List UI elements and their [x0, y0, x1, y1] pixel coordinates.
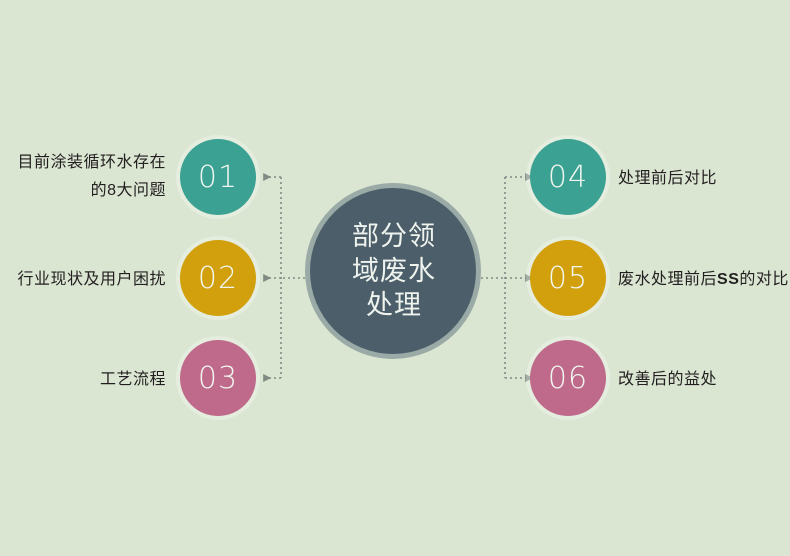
node-number-06: 06 — [548, 361, 588, 396]
node-label-03: 工艺流程 — [100, 366, 166, 394]
node-circle-04[interactable]: 04 — [530, 139, 606, 215]
node-label-06: 改善后的益处 — [618, 366, 717, 394]
center-hub-label: 部分领 域废水 处理 — [350, 219, 436, 323]
node-label-04: 处理前后对比 — [618, 165, 717, 193]
node-circle-06[interactable]: 06 — [530, 340, 606, 416]
node-label-05: 废水处理前后SS的对比 — [618, 266, 789, 294]
center-hub[interactable]: 部分领 域废水 处理 — [310, 188, 476, 354]
node-circle-05[interactable]: 05 — [530, 240, 606, 316]
node-number-03: 03 — [198, 361, 238, 396]
node-number-01: 01 — [198, 160, 238, 195]
node-label-05-suffix: 的对比 — [739, 271, 789, 288]
node-label-01: 目前涂装循环水存在 的8大问题 — [17, 149, 166, 205]
node-circle-01[interactable]: 01 — [180, 139, 256, 215]
node-circle-03[interactable]: 03 — [180, 340, 256, 416]
node-label-05-emphasis: SS — [717, 271, 739, 288]
node-number-05: 05 — [548, 261, 588, 296]
node-number-04: 04 — [548, 160, 588, 195]
diagram-canvas: 部分领 域废水 处理 01 目前涂装循环水存在 的8大问题 02 行业现状及用户… — [0, 0, 790, 556]
node-label-02: 行业现状及用户困扰 — [17, 266, 166, 294]
node-label-05-prefix: 废水处理前后 — [618, 271, 717, 288]
node-number-02: 02 — [198, 261, 238, 296]
node-circle-02[interactable]: 02 — [180, 240, 256, 316]
